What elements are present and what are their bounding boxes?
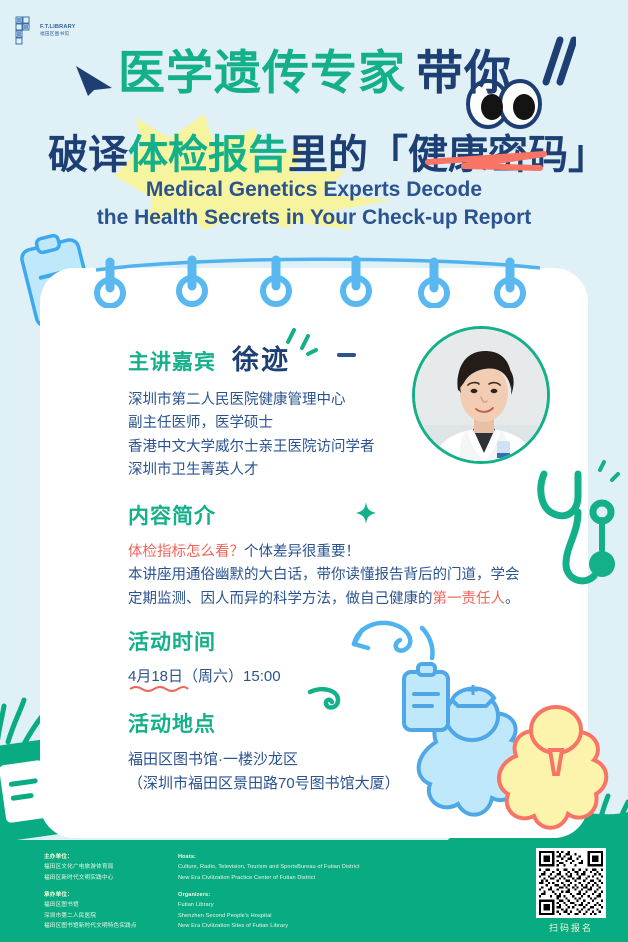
headline-line2-a: 破译: [48, 133, 128, 177]
subtitle-line2: the Health Secrets in Your Check-up Repo…: [0, 204, 628, 232]
speaker-credentials: 深圳市第二人民医院健康管理中心 副主任医师，医学硕士 香港中文大学威尔士亲王医院…: [128, 389, 375, 483]
time-value-wrap: 4月18日（周六）15:00: [128, 665, 281, 689]
library-logo-mark: [14, 16, 36, 46]
qr-caption: 扫码报名: [536, 921, 606, 934]
footer-hosts-label-cn: 主办单位：: [44, 852, 137, 862]
footer-organizers-label-cn: 承办单位：: [44, 890, 137, 900]
headline-line2: 破译体检报告里的「健康密码」: [48, 122, 608, 180]
credential-line: 香港中文大学威尔士亲王医院访问学者: [128, 436, 375, 459]
speaker-name: 徐迹: [232, 338, 290, 377]
arrow-doodle-icon: [336, 614, 448, 672]
sparkle-dots-icon: [600, 462, 618, 480]
place-value: 福田区图书馆·一楼沙龙区 （深圳市福田区景田路70号图书馆大厦）: [128, 748, 400, 797]
qr-code-image: [539, 851, 603, 915]
headline-bracket-close: 」: [568, 133, 608, 177]
speaker-portrait-image: [415, 329, 550, 464]
subtitle-line1: Medical Genetics Experts Decode: [0, 176, 628, 204]
speaker-photo: [412, 326, 550, 464]
footer-organizer-en: Shenzhen Second People's Hospital: [178, 911, 360, 921]
intro-block: 内容简介 体检指标怎么看？个体差异很重要！ 本讲座用通俗幽默的大白话，带你读懂报…: [128, 500, 526, 611]
footer-chinese: 主办单位： 福田区文化广电旅游体育局 福田区新时代文明实践中心 承办单位： 福田…: [44, 852, 137, 931]
footer-host-cn: 福田区文化广电旅游体育局: [44, 862, 137, 872]
footer-organizer-en: Futian Library: [178, 900, 360, 910]
time-block: 活动时间 4月18日（周六）15:00: [128, 626, 281, 689]
card-content: 主讲嘉宾 徐迹 深圳市第二人民医院健康管理中心 副主任医师，医学硕士 香港中文大…: [40, 268, 588, 838]
headline-line1: 医学遗传专家带你: [118, 34, 512, 103]
qr-code[interactable]: [536, 848, 606, 918]
credential-line: 深圳市卫生菁英人才: [128, 459, 375, 482]
footer-organizer-cn: 福田区图书馆: [44, 900, 137, 910]
headline-line1-blue: 带你: [416, 46, 512, 99]
slash-accent-icon: [530, 34, 576, 94]
headline-subtitle: Medical Genetics Experts Decode the Heal…: [0, 176, 628, 233]
footer-organizer-cn: 福田区图书馆新时代文明特色实践点: [44, 921, 137, 931]
library-logo: F.T.LIBRARY 福田区图书馆: [14, 16, 76, 46]
credential-line: 副主任医师，医学硕士: [128, 412, 375, 435]
place-line2: （深圳市福田区景田路70号图书馆大厦）: [128, 772, 400, 796]
footer-organizers-label-en: Organizers:: [178, 890, 360, 900]
time-heading: 活动时间: [128, 626, 281, 656]
footer-host-en: New Era Civilization Practice Center of …: [178, 873, 360, 883]
intro-body: 体检指标怎么看？个体差异很重要！ 本讲座用通俗幽默的大白话，带你读懂报告背后的门…: [128, 541, 526, 611]
speaker-block: 主讲嘉宾 徐迹 深圳市第二人民医院健康管理中心 副主任医师，医学硕士 香港中文大…: [128, 338, 375, 483]
headline-line2-blue: 健康密码: [408, 133, 568, 177]
qr-section[interactable]: 扫码报名: [536, 848, 606, 934]
footer-organizer-en: New Era Civilization Sites of Futian Lib…: [178, 921, 360, 931]
headline-bracket-open: 「: [368, 133, 408, 177]
intro-hook-rest: 个体差异很重要！: [244, 544, 360, 560]
poster-root: F.T.LIBRARY 福田区图书馆 医学遗传专家带你 破译体检: [0, 0, 628, 942]
place-heading: 活动地点: [128, 708, 400, 738]
place-line1: 福田区图书馆·一楼沙龙区: [128, 748, 400, 772]
time-squiggle-underline: [128, 684, 190, 692]
headline-line2-green: 体检报告: [128, 133, 288, 177]
intro-hook: 体检指标怎么看？: [128, 544, 244, 560]
footer-host-en: Culture, Radio, Television, Tourism and …: [178, 862, 360, 872]
credential-line: 深圳市第二人民医院健康管理中心: [128, 389, 375, 412]
time-value: 4月18日（周六）15:00: [128, 668, 281, 685]
footer-english: Hosts: Culture, Radio, Television, Touri…: [178, 852, 360, 931]
arrow-accent-icon: [72, 62, 120, 100]
headline-line1-green: 医学遗传专家: [118, 46, 406, 99]
footer-host-cn: 福田区新时代文明实践中心: [44, 873, 137, 883]
intro-heading: 内容简介: [128, 500, 526, 530]
intro-body-b: 。: [505, 591, 520, 607]
logo-text-cn: 福田区图书馆: [40, 32, 76, 37]
intro-body-highlight: 第一责任人: [433, 591, 506, 607]
footer-bar: 主办单位： 福田区文化广电旅游体育局 福田区新时代文明实践中心 承办单位： 福田…: [0, 840, 628, 942]
place-block: 活动地点 福田区图书馆·一楼沙龙区 （深圳市福田区景田路70号图书馆大厦）: [128, 708, 400, 797]
headline-line2-b: 里的: [288, 133, 368, 177]
footer-organizer-cn: 深圳市第二人民医院: [44, 911, 137, 921]
footer-hosts-label-en: Hosts:: [178, 852, 360, 862]
speaker-label: 主讲嘉宾: [128, 346, 216, 376]
